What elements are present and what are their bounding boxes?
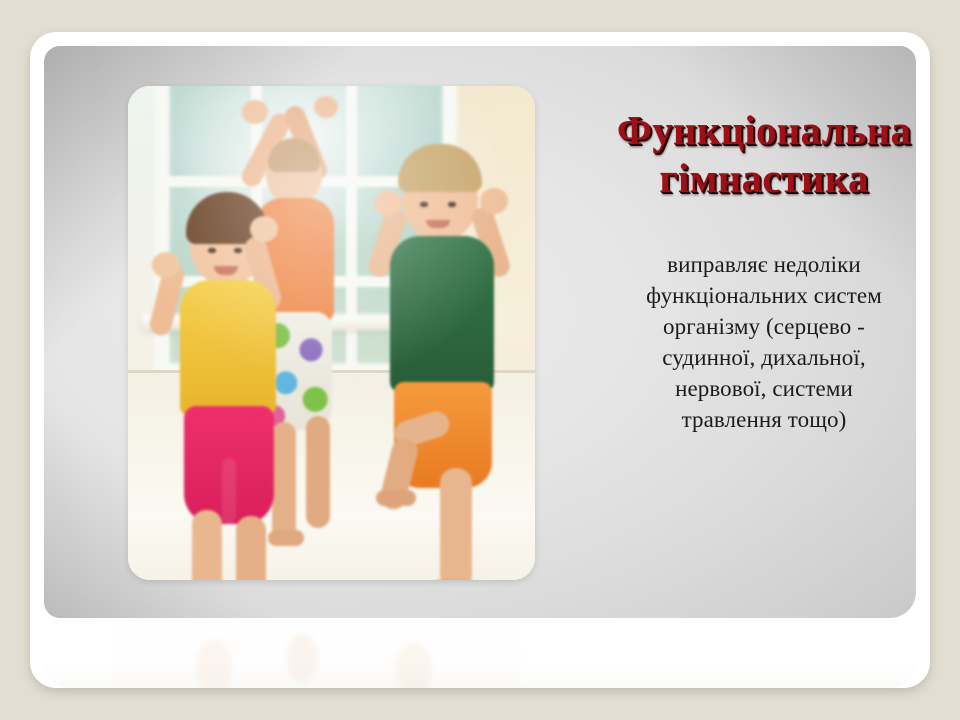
body-line-5: нервової, системи	[564, 373, 916, 404]
slide-root: Функціональна гімнастика виправляє недол…	[0, 0, 960, 720]
body-line-2: функціональних систем	[564, 280, 916, 311]
body-line-3: організму (серцево -	[564, 311, 916, 342]
photo-inner	[128, 86, 535, 580]
photo-children-exercising	[128, 86, 535, 580]
body-line-1: виправляє недоліки	[564, 249, 916, 280]
text-column: Функціональна гімнастика виправляє недол…	[564, 106, 916, 435]
slide-card: Функціональна гімнастика виправляє недол…	[30, 32, 930, 688]
photo-reflection	[114, 618, 521, 688]
page-title-line-2: гімнастика	[659, 155, 869, 201]
page-title-line-1: Функціональна	[617, 107, 911, 153]
page-title: Функціональна гімнастика	[564, 106, 916, 203]
body-text: виправляє недоліки функціональних систем…	[564, 249, 916, 435]
content-panel: Функціональна гімнастика виправляє недол…	[44, 46, 916, 618]
body-line-6: травлення тощо)	[564, 404, 916, 435]
photo-highlight	[128, 86, 535, 580]
reflection-band	[44, 618, 916, 688]
body-line-4: судинної, дихальної,	[564, 342, 916, 373]
